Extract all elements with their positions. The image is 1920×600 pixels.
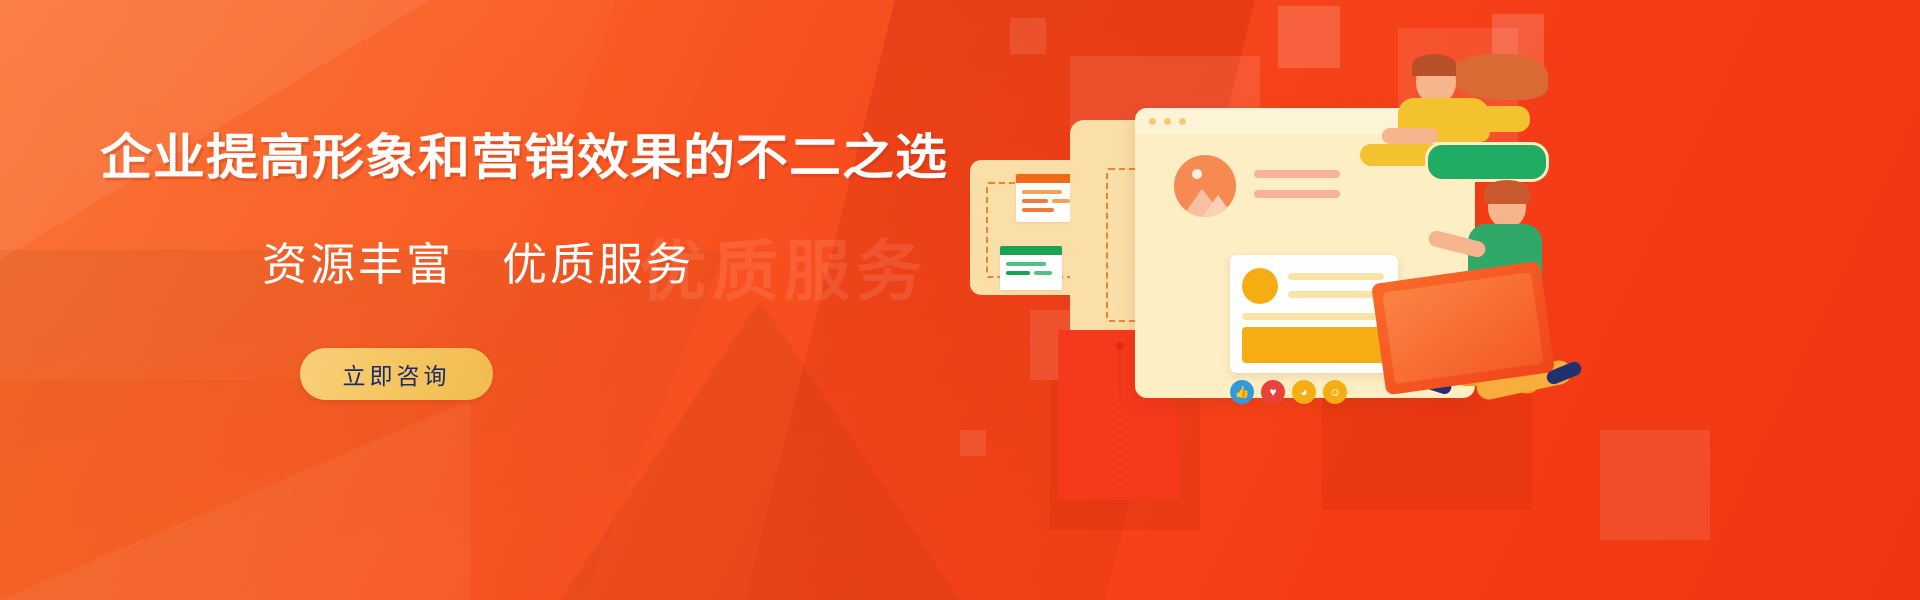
window-dot-1-icon [1149,118,1156,125]
character-top-hair-back [1448,54,1548,100]
held-green-bar [1425,142,1549,182]
marketing-illustration: 👍 ♥ ◕ ☺ [930,0,1920,600]
pin-dot-icon [1116,342,1124,350]
mini-card-orange [1016,174,1078,222]
thumbs-up-reaction-icon[interactable]: 👍 [1230,380,1254,404]
character-bottom-hair [1484,180,1530,204]
consult-now-button-label: 立即咨询 [343,357,451,391]
copy-block: 企业提高形象和营销效果的不二之选 资源丰富 优质服务 立即咨询 [0,0,960,600]
page-title: 企业提高形象和营销效果的不二之选 [100,118,948,189]
pin-dashed-line [1119,350,1121,490]
character-bottom-holding-folder [1350,180,1580,510]
subtitle: 资源丰富 优质服务 [262,228,694,293]
character-top-shoulder [1470,106,1530,132]
held-orange-folder [1371,261,1555,396]
promo-banner: 优质服务 企业提高形象和营销效果的不二之选 资源丰富 优质服务 立即咨询 [0,0,1920,600]
character-top-arm [1382,128,1438,144]
laugh-reaction-icon[interactable]: ◕ [1292,380,1316,404]
consult-now-button[interactable]: 立即咨询 [300,348,493,400]
image-placeholder-icon [1174,155,1236,217]
window-dot-2-icon [1164,118,1171,125]
smile-reaction-icon[interactable]: ☺ [1323,380,1347,404]
heart-reaction-icon[interactable]: ♥ [1261,380,1285,404]
avatar [1242,268,1278,304]
mini-card-green [1000,246,1062,290]
character-top-hair-front [1412,54,1456,76]
reaction-bar[interactable]: 👍 ♥ ◕ ☺ [1230,380,1347,404]
window-dot-3-icon [1179,118,1186,125]
